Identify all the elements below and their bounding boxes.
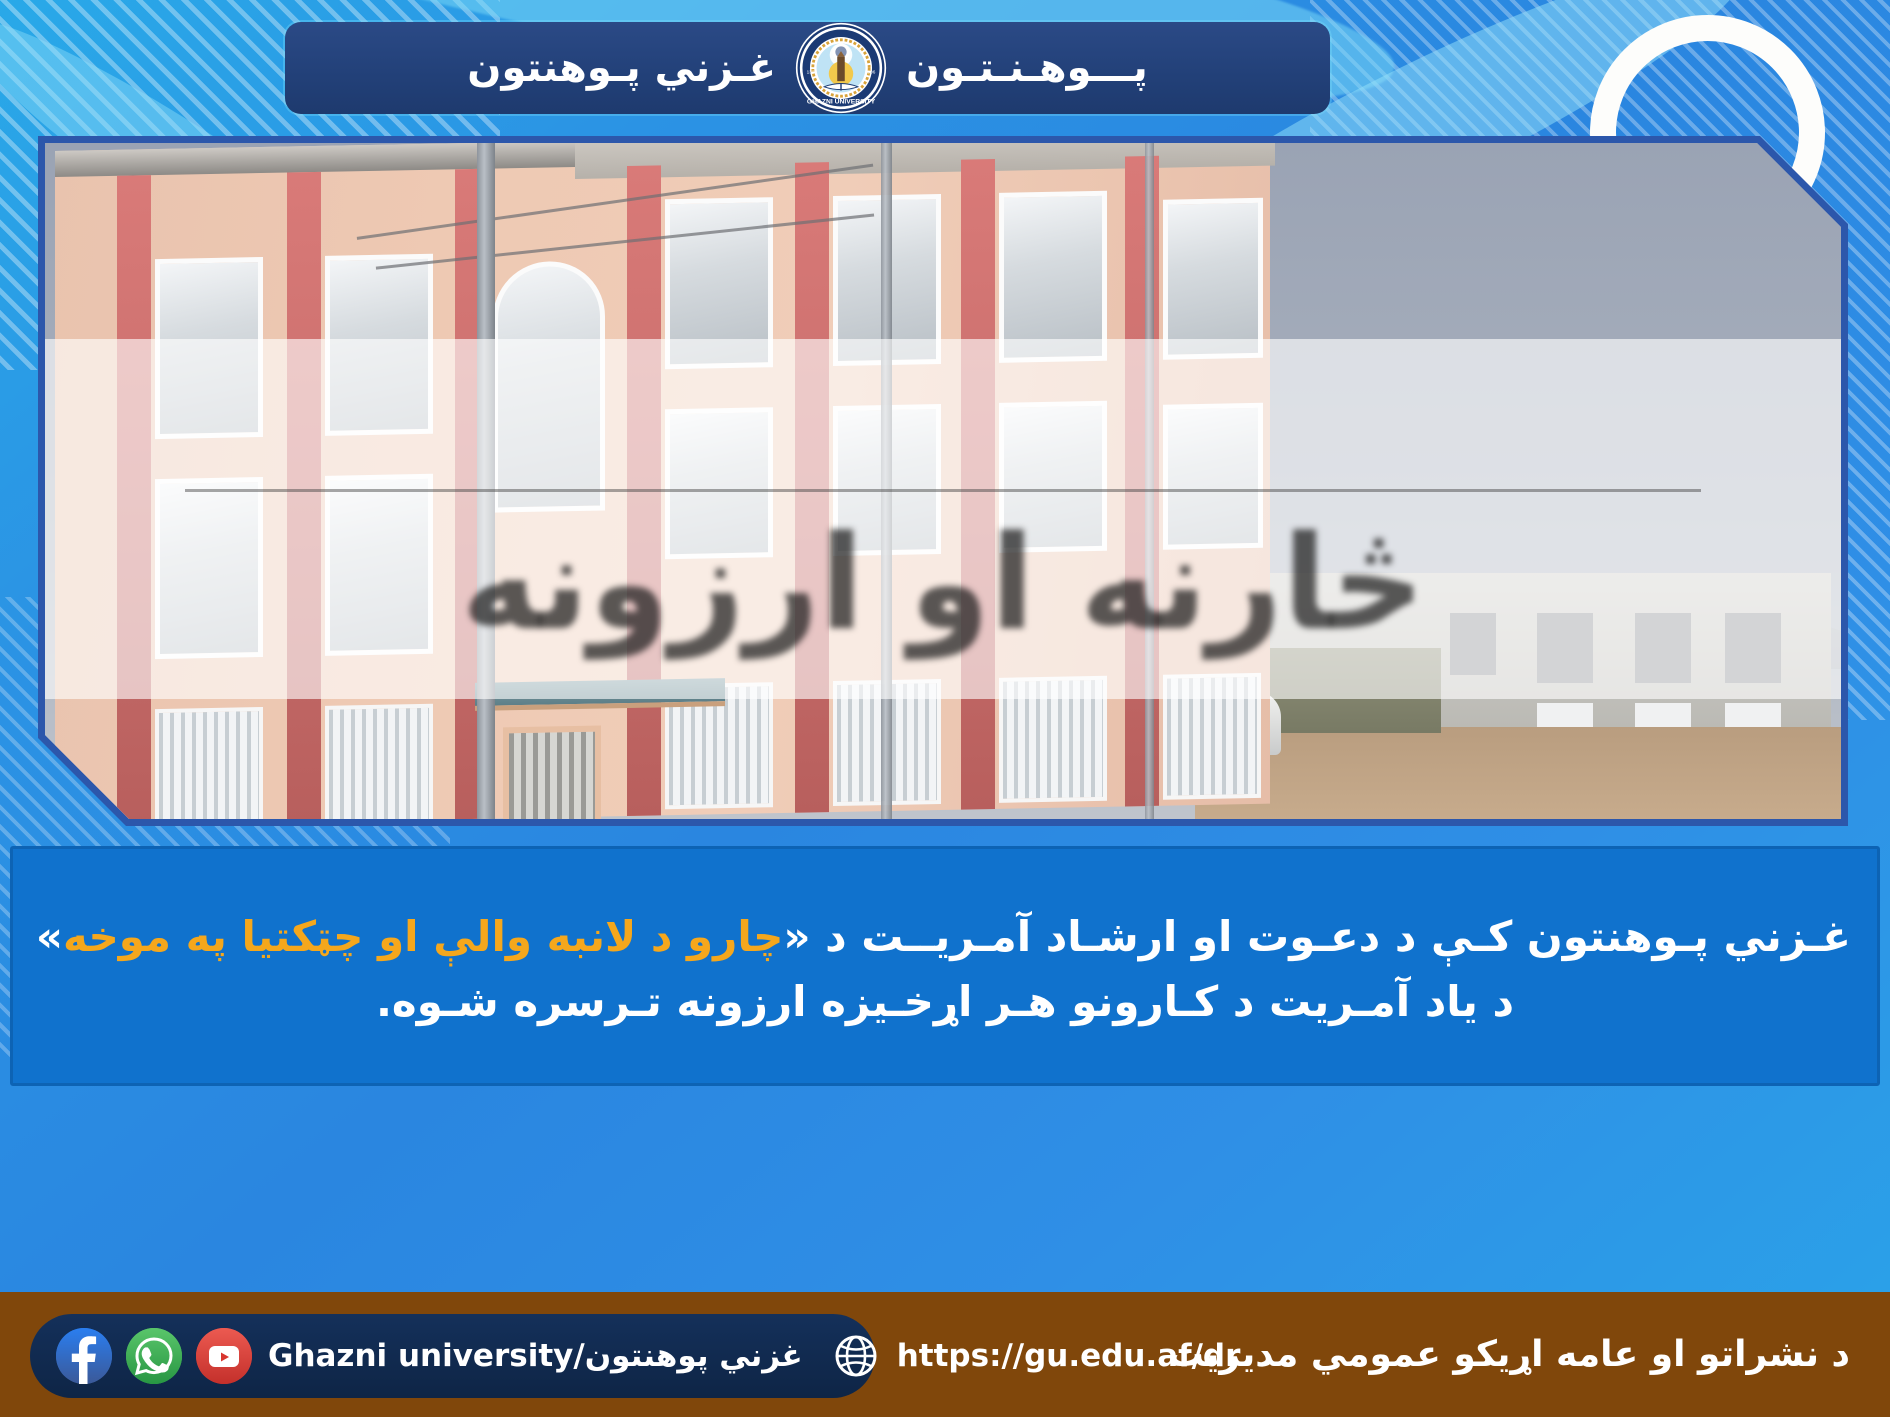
caption-box: غـزني پـوهنتون کـې د دعـوت او ارشـاد آمـ…: [10, 846, 1880, 1086]
upper-block: [575, 143, 1275, 179]
ghazni-university-seal-icon: GHAZNI UNIVERSITY 1385 2006: [794, 21, 888, 115]
building-photo: څارنه او ارزونه: [45, 143, 1841, 819]
ground: [1195, 727, 1841, 819]
caption-line-2: د یاد آمـریت د کـارونو هـر اړخـیزه ارزون…: [39, 969, 1851, 1034]
svg-text:GHAZNI UNIVERSITY: GHAZNI UNIVERSITY: [807, 99, 876, 106]
svg-text:2006: 2006: [865, 70, 876, 75]
social-links-pill: Ghazni university/غزني پوهنتون https://g…: [30, 1314, 875, 1398]
youtube-icon[interactable]: [196, 1328, 252, 1384]
caption-text-after: »: [36, 912, 63, 961]
barred-window: [325, 704, 433, 819]
footer-bar: Ghazni university/غزني پوهنتون https://g…: [0, 1292, 1890, 1417]
watermark-overlay: څارنه او ارزونه: [45, 339, 1841, 699]
globe-icon: [833, 1333, 879, 1379]
facebook-icon[interactable]: [56, 1328, 112, 1384]
department-name: د نشراتو او عامه اړیکو عمومي مدیریت: [1168, 1292, 1850, 1417]
photo-frame: څارنه او ارزونه: [38, 136, 1848, 826]
caption-highlight: چارو د لانبه والې او چټکتيا په موخه: [63, 912, 783, 961]
entrance-door: [503, 726, 601, 819]
watermark-text: څارنه او ارزونه: [461, 507, 1425, 659]
whatsapp-icon[interactable]: [126, 1328, 182, 1384]
window: [999, 191, 1107, 363]
window: [1163, 198, 1263, 360]
header-title-right: پـــوهـنـتـون: [888, 45, 1166, 91]
caption-text-before: غـزني پـوهنتون کـې د دعـوت او ارشـاد آمـ…: [783, 912, 1851, 961]
header-title-left: غـزني پـوهنتون: [449, 45, 794, 91]
caption-line-1: غـزني پـوهنتون کـې د دعـوت او ارشـاد آمـ…: [39, 904, 1851, 969]
barred-window: [155, 707, 263, 819]
social-handle-text: Ghazni university/غزني پوهنتون: [268, 1338, 803, 1374]
header-banner: پـــوهـنـتـون GHAZNI UNIVERSITY 1385 200…: [285, 22, 1330, 114]
svg-text:1385: 1385: [807, 70, 818, 75]
